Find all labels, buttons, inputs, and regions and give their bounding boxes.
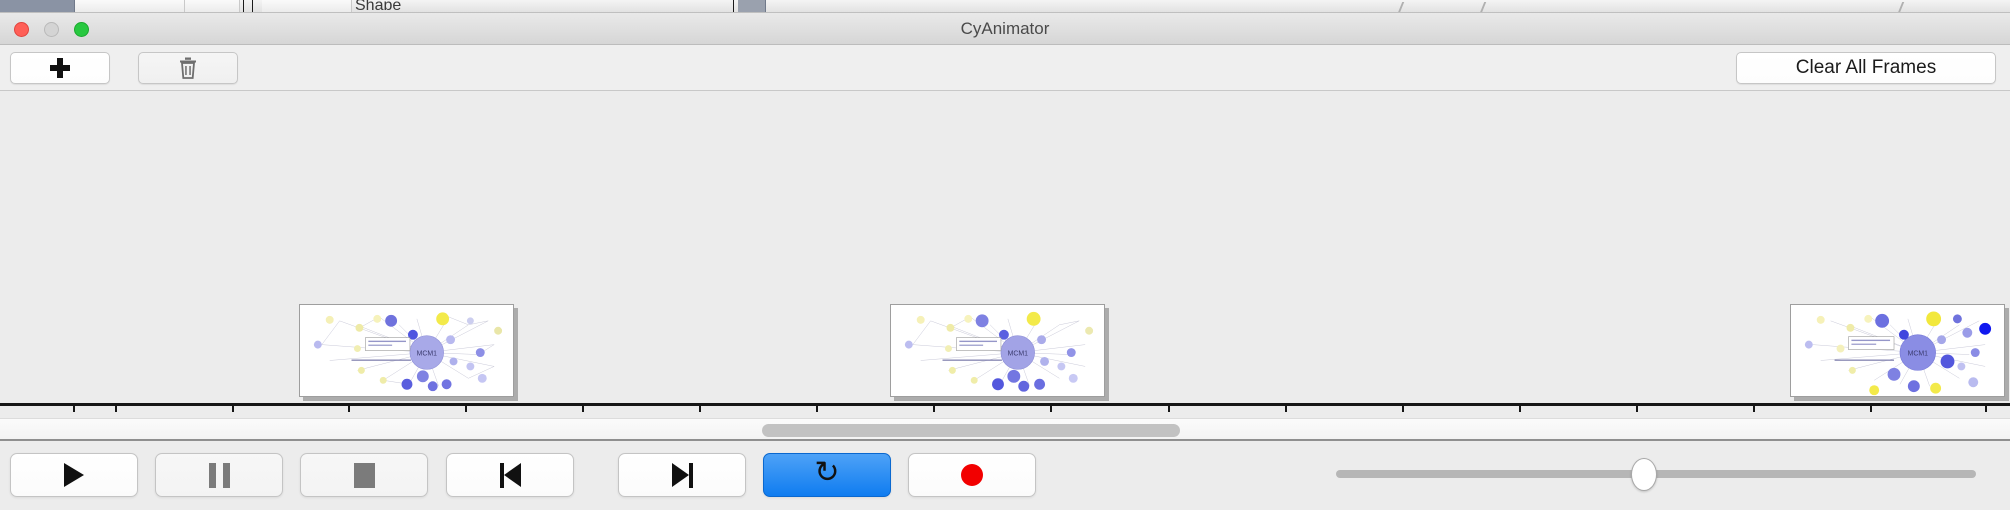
pause-button[interactable] (155, 453, 283, 497)
axis-major-tick (1870, 406, 1872, 412)
timeline-axis (0, 403, 2010, 406)
background-divider (243, 0, 244, 13)
background-divider (252, 0, 253, 13)
network-preview-icon: MCM1 (300, 305, 513, 397)
background-ghost-label: Shape (355, 0, 401, 10)
axis-minor-tick (1985, 406, 1987, 412)
hub-node-label: MCM1 (1908, 351, 1929, 358)
axis-major-tick (1168, 406, 1170, 412)
background-tab-active (0, 0, 75, 13)
axis-major-tick (465, 406, 467, 412)
stop-button[interactable] (300, 453, 428, 497)
timeline-panel[interactable]: MCM1 (0, 91, 2010, 412)
background-tab (75, 0, 185, 13)
axis-minor-tick (1285, 406, 1287, 412)
axis-major-tick (699, 406, 701, 412)
axis-minor-tick (582, 406, 584, 412)
trash-icon (178, 56, 198, 80)
clear-all-frames-label: Clear All Frames (1796, 57, 1936, 79)
background-divider (733, 0, 734, 13)
hub-node-label: MCM1 (417, 351, 438, 358)
loop-button[interactable]: ↻ (763, 453, 891, 497)
axis-major-tick (1402, 406, 1404, 412)
toolbar: Clear All Frames (0, 45, 2010, 91)
network-preview-icon: MCM1 (1791, 305, 2004, 397)
background-tab (185, 0, 240, 13)
background-tab (262, 0, 352, 13)
hub-node-label: MCM1 (1008, 351, 1029, 358)
play-icon (64, 463, 84, 487)
add-frame-button[interactable] (10, 52, 110, 84)
frame-thumbnail[interactable]: MCM1 (890, 304, 1105, 397)
prev-frame-button[interactable] (446, 453, 574, 497)
loop-icon: ↻ (814, 458, 839, 488)
axis-minor-tick (1050, 406, 1052, 412)
axis-major-tick (232, 406, 234, 412)
title-bar[interactable]: CyAnimator (0, 13, 2010, 45)
next-frame-button[interactable] (618, 453, 746, 497)
cyanimator-window: Shape CyAnimator Clear All Frames (0, 0, 2010, 510)
axis-minor-tick (73, 406, 75, 412)
network-preview-icon: MCM1 (891, 305, 1104, 397)
record-button[interactable] (908, 453, 1036, 497)
timeline-scrollbar-thumb[interactable] (762, 424, 1180, 437)
pause-icon (209, 463, 230, 488)
animation-speed-slider-thumb[interactable] (1631, 458, 1657, 491)
axis-minor-tick (115, 406, 117, 412)
background-chevron (1398, 2, 1416, 13)
play-button[interactable] (10, 453, 138, 497)
record-icon (961, 464, 983, 486)
background-chevron (1480, 2, 1498, 13)
axis-minor-tick (348, 406, 350, 412)
skip-back-icon (500, 463, 521, 488)
axis-major-tick (933, 406, 935, 412)
axis-minor-tick (816, 406, 818, 412)
timeline-scrollbar[interactable] (0, 418, 2010, 441)
frame-thumbnail[interactable]: MCM1 (1790, 304, 2005, 397)
background-chevron (1898, 2, 1916, 13)
plus-icon (50, 58, 70, 78)
stop-icon (354, 463, 375, 488)
axis-minor-tick (1753, 406, 1755, 412)
axis-minor-tick (1519, 406, 1521, 412)
background-window-strip: Shape (0, 0, 2010, 13)
clear-all-frames-button[interactable]: Clear All Frames (1736, 52, 1996, 84)
delete-frame-button[interactable] (138, 52, 238, 84)
window-title: CyAnimator (0, 13, 2010, 45)
axis-major-tick (1636, 406, 1638, 412)
frame-thumbnail[interactable]: MCM1 (299, 304, 514, 397)
skip-forward-icon (672, 463, 693, 488)
background-tab (738, 0, 766, 13)
